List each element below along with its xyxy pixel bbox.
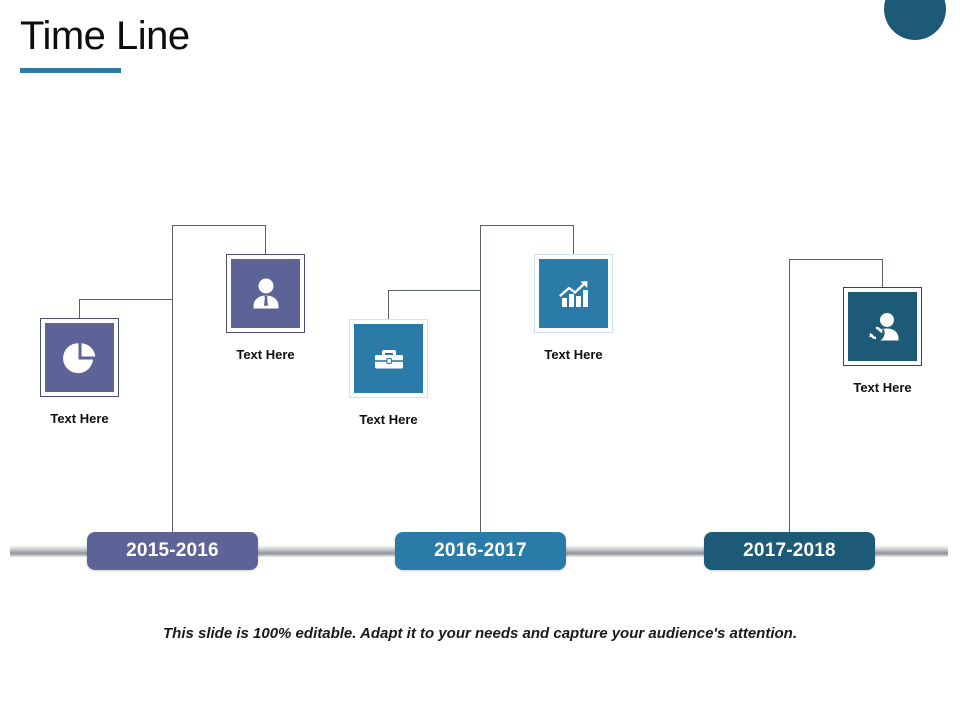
connector-branch-1b [172, 225, 266, 226]
node-label-4: Text Here [534, 347, 613, 362]
slide-caption: This slide is 100% editable. Adapt it to… [0, 625, 960, 642]
growth-chart-icon [554, 274, 594, 314]
briefcase-icon [369, 339, 409, 379]
node-card-1[interactable] [40, 318, 119, 397]
node-fill-5 [848, 292, 917, 361]
node-label-5: Text Here [843, 380, 922, 395]
title-underline [20, 68, 121, 73]
connector-trunk-2 [480, 225, 481, 535]
milestone-badge-2015-2016[interactable]: 2015-2016 [87, 532, 258, 570]
node-label-2: Text Here [226, 347, 305, 362]
timeline-node-3[interactable]: Text Here [349, 319, 428, 427]
connector-drop-3a [882, 259, 883, 287]
milestone-badge-2017-2018[interactable]: 2017-2018 [704, 532, 875, 570]
page-title: Time Line [20, 12, 190, 60]
corner-circle-decoration [884, 0, 946, 40]
node-card-3[interactable] [349, 319, 428, 398]
milestone-badge-2016-2017[interactable]: 2016-2017 [395, 532, 566, 570]
node-fill-2 [231, 259, 300, 328]
milestone-label-1: 2015-2016 [126, 540, 219, 562]
connector-branch-2a [388, 290, 481, 291]
timeline-node-1[interactable]: Text Here [40, 318, 119, 426]
node-card-5[interactable] [843, 287, 922, 366]
connector-drop-1a [79, 299, 80, 318]
node-label-1: Text Here [40, 411, 119, 426]
connector-trunk-3 [789, 259, 790, 535]
milestone-label-2: 2016-2017 [434, 540, 527, 562]
connector-drop-2a [388, 290, 389, 319]
timeline-node-2[interactable]: Text Here [226, 254, 305, 362]
pie-chart-icon [60, 338, 100, 378]
connector-branch-3a [789, 259, 883, 260]
connector-branch-1a [79, 299, 173, 300]
milestone-label-3: 2017-2018 [743, 540, 836, 562]
connector-trunk-1 [172, 225, 173, 535]
title-block: Time Line [20, 12, 190, 73]
connector-branch-2b [480, 225, 574, 226]
node-fill-3 [354, 324, 423, 393]
node-card-2[interactable] [226, 254, 305, 333]
timeline-node-4[interactable]: Text Here [534, 254, 613, 362]
timeline-slide: Time Line Text Here [0, 0, 960, 720]
node-label-3: Text Here [349, 412, 428, 427]
user-sync-icon [863, 307, 903, 347]
node-fill-1 [45, 323, 114, 392]
connector-drop-1b [265, 225, 266, 254]
connector-drop-2b [573, 225, 574, 254]
timeline-node-5[interactable]: Text Here [843, 287, 922, 395]
businessman-icon [246, 274, 286, 314]
node-card-4[interactable] [534, 254, 613, 333]
node-fill-4 [539, 259, 608, 328]
